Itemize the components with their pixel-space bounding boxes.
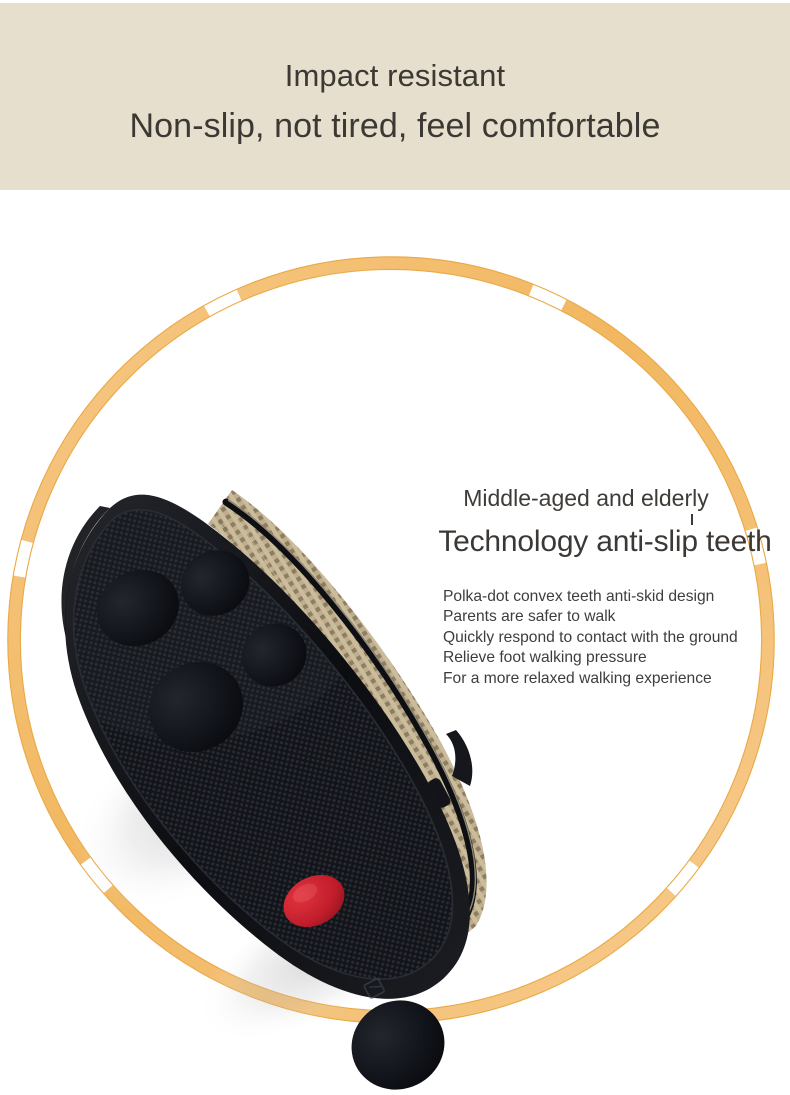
copy-bullet: Quickly respond to contact with the grou… — [443, 628, 780, 648]
copy-tick-mark — [691, 514, 693, 525]
feature-copy-block: Middle-aged and elderly Technology anti-… — [430, 483, 780, 689]
copy-bullet: Relieve foot walking pressure — [443, 648, 780, 668]
copy-kicker: Middle-aged and elderly — [430, 483, 780, 513]
copy-bullet: Parents are safer to walk — [443, 607, 780, 627]
copy-bullet: Polka-dot convex teeth anti-skid design — [443, 587, 780, 607]
header-headline-primary: Impact resistant — [0, 58, 790, 94]
copy-bullet-list: Polka-dot convex teeth anti-skid design … — [443, 587, 780, 689]
header-headline-secondary: Non-slip, not tired, feel comfortable — [0, 106, 790, 146]
copy-bullet: For a more relaxed walking experience — [443, 669, 780, 689]
header-band: Impact resistant Non-slip, not tired, fe… — [0, 3, 790, 190]
feature-stage: Middle-aged and elderly Technology anti-… — [0, 190, 790, 1095]
copy-title: Technology anti-slip teeth — [430, 523, 780, 561]
product-feature-banner: Impact resistant Non-slip, not tired, fe… — [0, 0, 790, 1095]
